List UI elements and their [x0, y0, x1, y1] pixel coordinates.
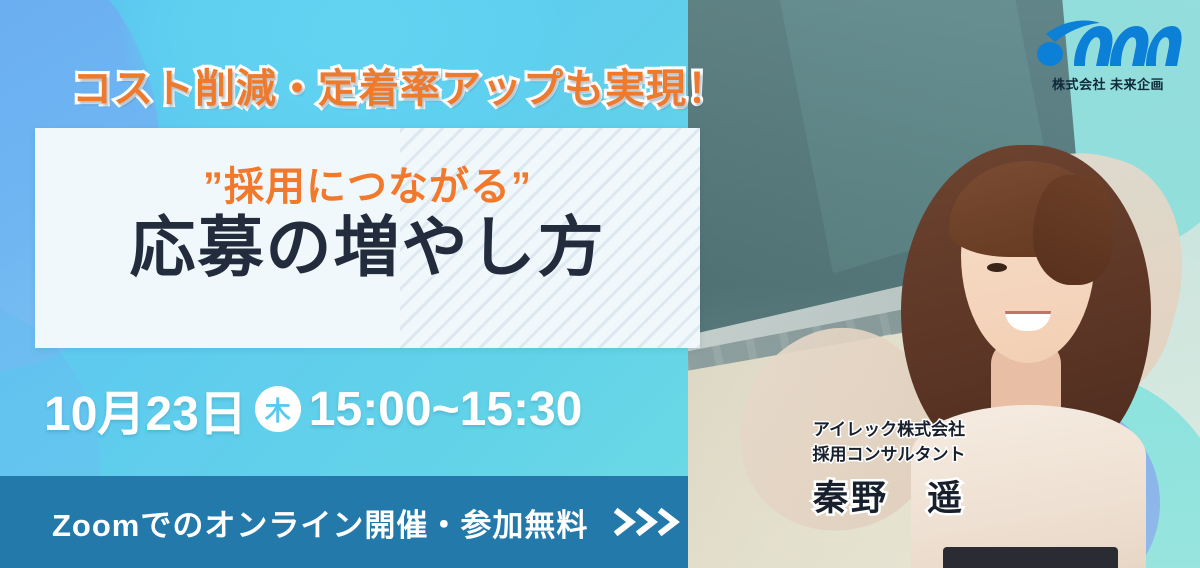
schedule-weekday-badge: 木 [255, 386, 301, 432]
schedule-row: 10月23日 木 15:00~15:30 [44, 374, 582, 444]
card-title-wrap: 応募の増やし方 [35, 210, 700, 286]
schedule-date: 10月23日 [44, 374, 247, 444]
headline: コスト削減・定着率アップも実現！ [72, 56, 728, 114]
cta-label: Zoomでのオンライン開催・参加無料 [52, 500, 588, 545]
portrait-hair-side [1033, 175, 1113, 285]
schedule-time: 15:00~15:30 [309, 382, 583, 437]
speaker-company: アイレック株式会社 [774, 418, 1004, 443]
speaker-credentials: アイレック株式会社 採用コンサルタント 秦野 遥 [774, 418, 1004, 521]
webinar-banner: 株式会社 未来企画 コスト削減・定着率アップも実現！ ”採用につながる” 応募の… [0, 0, 1200, 568]
portrait-eye-left [987, 263, 1007, 272]
cta-bar[interactable]: Zoomでのオンライン開催・参加無料 [0, 476, 688, 568]
company-logo: 株式会社 未来企画 [1034, 14, 1182, 106]
mirai-kikaku-m-logo-icon [1034, 14, 1182, 72]
card-subtitle: ”採用につながる” [35, 154, 700, 212]
portrait-belt [943, 547, 1118, 568]
chevron-right-icon [614, 507, 686, 537]
speaker-name: 秦野 遥 [774, 470, 1004, 521]
card-title: 応募の増やし方 [124, 210, 612, 286]
speaker-role: 採用コンサルタント [774, 443, 1004, 468]
company-name: 株式会社 未来企画 [1034, 74, 1182, 93]
title-card: ”採用につながる” 応募の増やし方 [35, 128, 700, 348]
